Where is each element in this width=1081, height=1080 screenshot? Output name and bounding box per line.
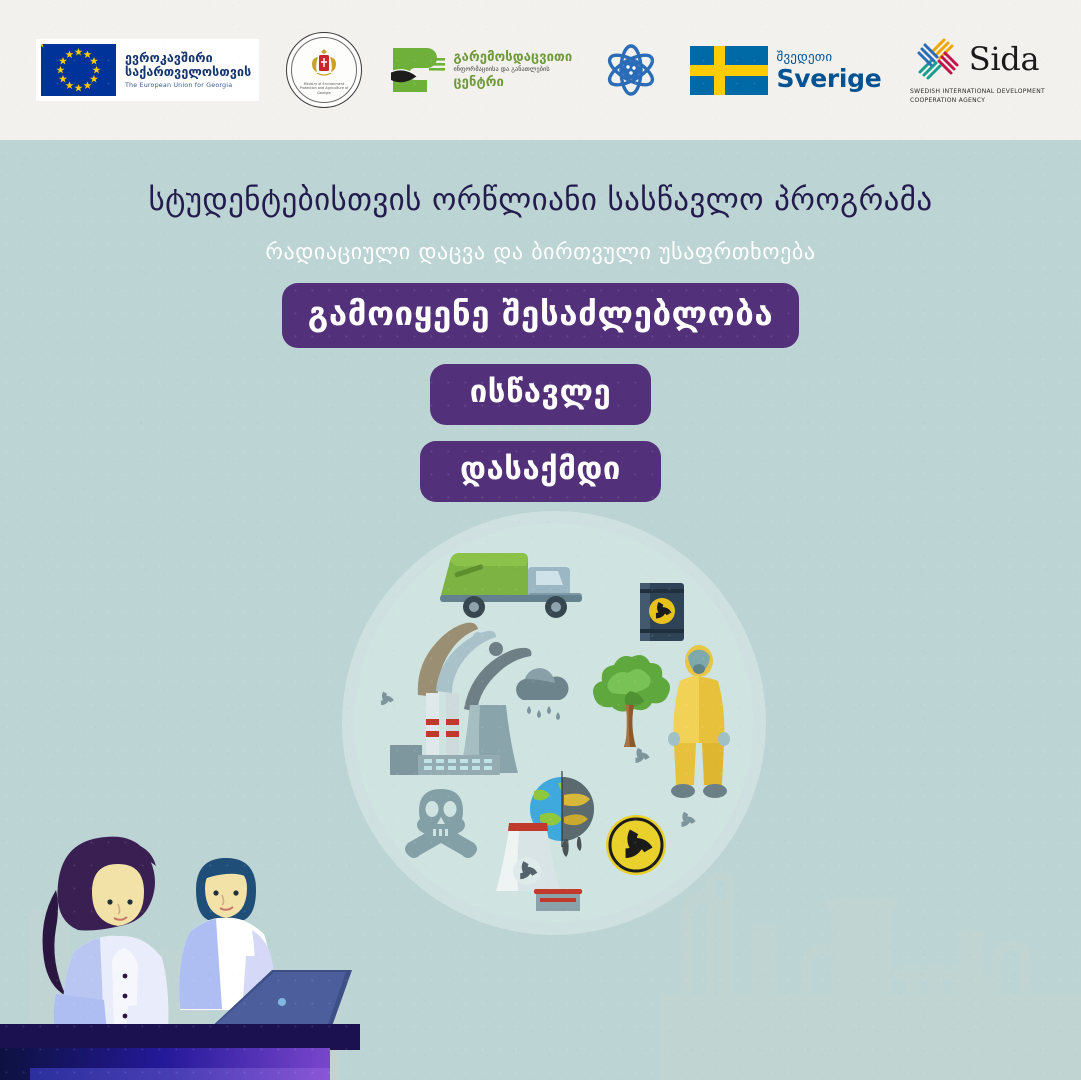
sweden-sverige-logo: შვედეთი Sverige <box>690 46 882 95</box>
desk-surface <box>0 1024 360 1050</box>
sweden-line2: Sverige <box>777 66 882 91</box>
eiec-line3: ცენტრი <box>454 75 573 90</box>
badge-get-employed[interactable]: დასაქმდი <box>420 441 661 502</box>
sida-sub-line2: COOPERATION AGENCY <box>910 96 1045 105</box>
atom-icon <box>599 38 663 102</box>
seal-caption: Ministry of Environment Protection and A… <box>298 82 350 96</box>
partner-logos-bar: ევროკავშირი საქართველოსთვის The European… <box>0 0 1081 140</box>
eu-logo-line3: The European Union for Georgia <box>125 82 251 89</box>
radioactive-barrel-icon <box>634 579 690 645</box>
sida-sub-line1: SWEDISH INTERNATIONAL DEVELOPMENT <box>910 87 1045 96</box>
sweden-flag-icon <box>690 46 768 95</box>
environmental-radiation-collage <box>354 523 754 923</box>
radiation-trefoil-small-icon <box>626 741 656 771</box>
badge-opportunity[interactable]: გამოიყენე შესაძლებლობა <box>282 283 800 348</box>
sida-pinwheel-icon <box>914 35 962 83</box>
poster-body: სტუდენტებისთვის ორწლიანი სასწავლო პროგრა… <box>0 140 1081 1080</box>
radiation-warning-icon <box>604 813 668 877</box>
industrial-plant-silhouette <box>661 810 1081 1080</box>
students-at-laptop-illustration <box>0 780 400 1080</box>
student-female <box>43 837 171 1047</box>
eu-for-georgia-logo: ევროკავშირი საქართველოსთვის The European… <box>36 39 259 101</box>
cooling-tower-icon <box>486 819 582 915</box>
page-title: სტუდენტებისთვის ორწლიანი სასწავლო პროგრა… <box>0 182 1081 218</box>
sweden-line1: შვედეთი <box>777 50 882 65</box>
eu-stars-icon <box>41 44 116 96</box>
eiec-book-leaf-icon <box>389 42 447 98</box>
radiation-trefoil-small-icon-2 <box>672 805 702 835</box>
eu-flag-icon <box>41 44 116 96</box>
eiec-line1: გარემოსდაცვითი <box>454 50 573 65</box>
eu-logo-line2: საქართველოსთვის <box>125 65 251 79</box>
environmental-information-education-centre-logo: გარემოსდაცვითი ინფორმაციისა და განათლები… <box>389 42 573 98</box>
sida-logo: Sida SWEDISH INTERNATIONAL DEVELOPMENT C… <box>908 35 1045 106</box>
nuclear-radiation-safety-agency-logo <box>599 38 663 102</box>
rain-cloud-icon <box>509 668 575 724</box>
page-subtitle: რადიაციული დაცვა და ბირთვული უსაფრთხოება <box>0 240 1081 265</box>
eu-logo-line1: ევროკავშირი <box>125 51 251 65</box>
skull-crossbones-icon <box>402 785 480 861</box>
badge-learn[interactable]: ისწავლე <box>430 364 652 425</box>
georgia-coat-of-arms-icon <box>303 47 345 81</box>
hazmat-worker-icon <box>664 641 734 801</box>
government-of-georgia-seal: Ministry of Environment Protection and A… <box>286 32 362 108</box>
sida-wordmark: Sida <box>969 43 1040 75</box>
eiec-line2: ინფორმაციისა და განათლების <box>454 66 573 73</box>
badge-stack: გამოიყენე შესაძლებლობა ისწავლე დასაქმდი <box>0 283 1081 502</box>
